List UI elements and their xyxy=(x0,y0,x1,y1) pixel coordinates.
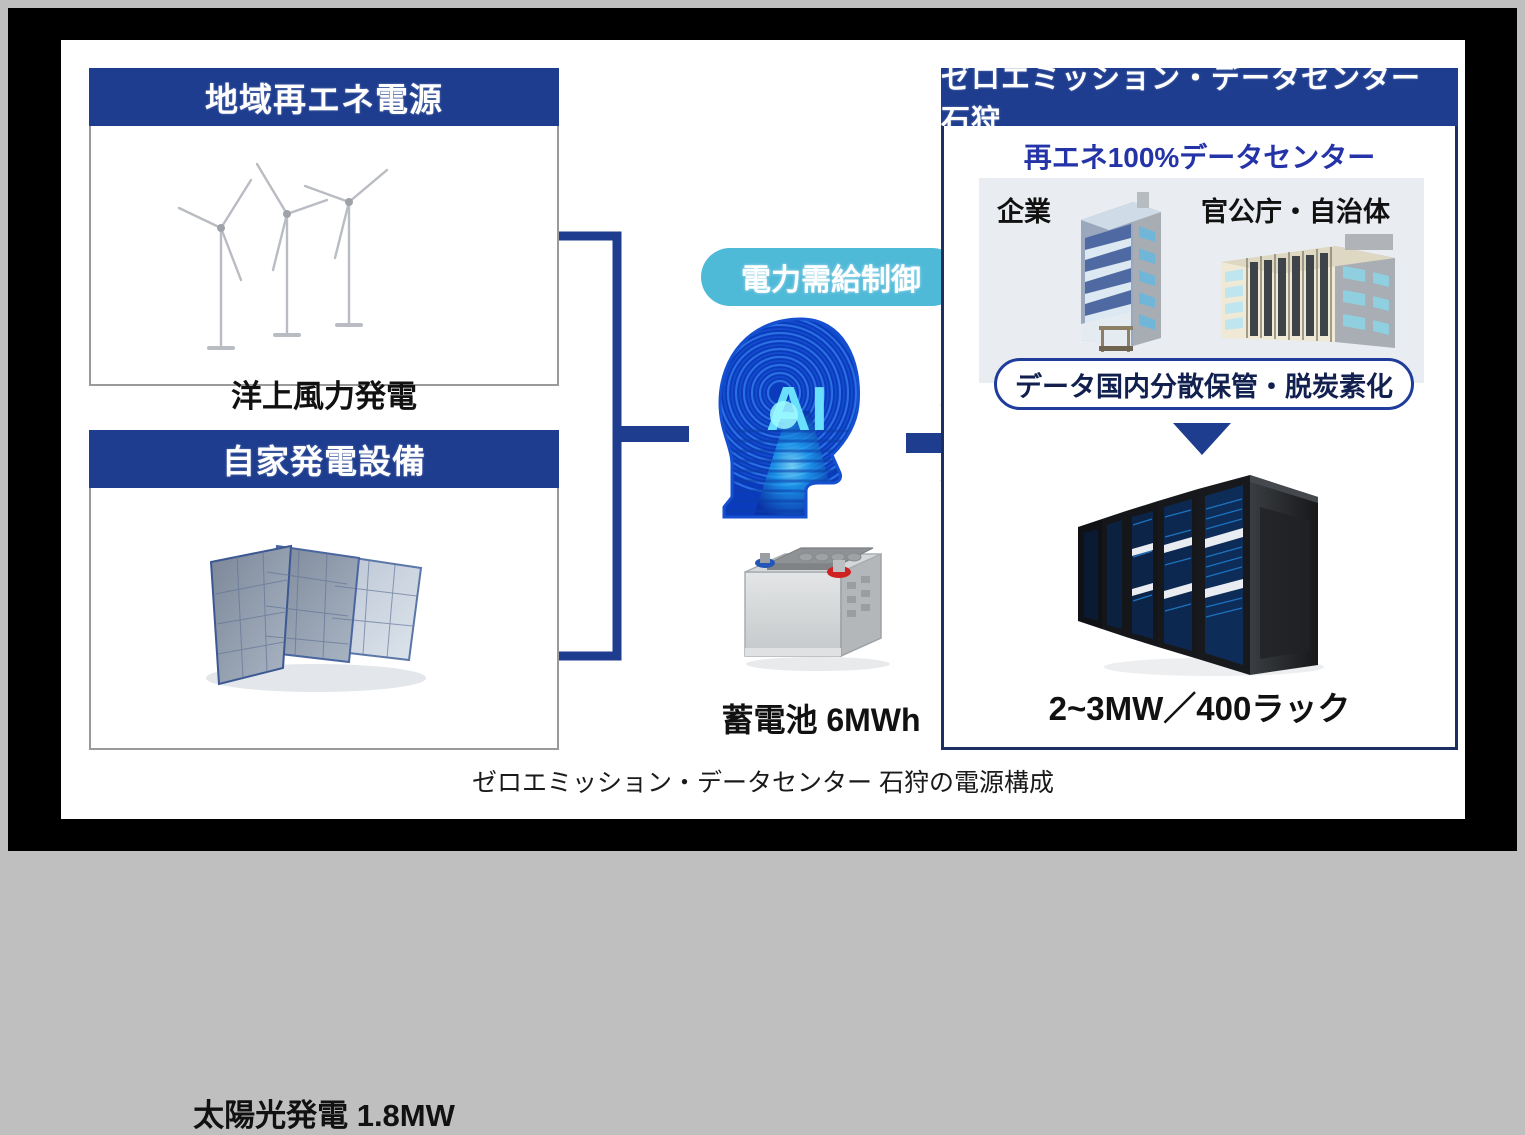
panel-body-own-generation: 太陽光発電 1.8MW xyxy=(89,488,559,750)
battery-caption: 蓄電池 6MWh xyxy=(661,695,981,741)
figure-frame: 地域再エネ電源 xyxy=(8,8,1517,851)
server-rack-icon xyxy=(1054,461,1354,679)
panel-caption-offshore-wind: 洋上風力発電 xyxy=(91,371,557,416)
government-building-icon xyxy=(1217,230,1422,358)
customers-box: 企業 官公庁・自治体 xyxy=(979,178,1424,383)
data-domestic-storage-oval: データ国内分散保管・脱炭素化 xyxy=(994,358,1414,410)
panel-body-data-center: 再エネ100%データセンター 企業 官公庁・自治体 xyxy=(941,126,1458,750)
solar-panel-icon xyxy=(91,510,557,710)
ai-head-icon: AI xyxy=(706,315,901,525)
power-demand-control-pill: 電力需給制御 xyxy=(701,248,961,306)
panel-header-regional-renewable: 地域再エネ電源 xyxy=(89,68,559,126)
down-arrow-icon xyxy=(1173,421,1231,457)
power-bus-connector xyxy=(559,230,689,662)
diagram-canvas: 地域再エネ電源 xyxy=(61,40,1465,819)
panel-caption-solar: 太陽光発電 1.8MW xyxy=(91,1090,557,1135)
oval-label: データ国内分散保管・脱炭素化 xyxy=(1015,365,1393,404)
office-building-icon xyxy=(1075,186,1167,356)
customer-label-government: 官公庁・自治体 xyxy=(1201,190,1390,229)
data-center-capacity-caption: 2~3MW／400ラック xyxy=(944,682,1455,730)
pill-label: 電力需給制御 xyxy=(741,255,921,299)
battery-icon xyxy=(723,520,908,675)
panel-body-regional-renewable: 洋上風力発電 xyxy=(89,126,559,386)
panel-header-own-generation: 自家発電設備 xyxy=(89,430,559,488)
panel-header-data-center: ゼロエミッション・データセンター 石狩 xyxy=(941,68,1458,126)
figure-caption: ゼロエミッション・データセンター 石狩の電源構成 xyxy=(61,763,1465,799)
customer-label-corporate: 企業 xyxy=(997,190,1051,229)
wind-turbine-icon xyxy=(91,140,557,360)
data-center-subtitle: 再エネ100%データセンター xyxy=(944,136,1455,176)
